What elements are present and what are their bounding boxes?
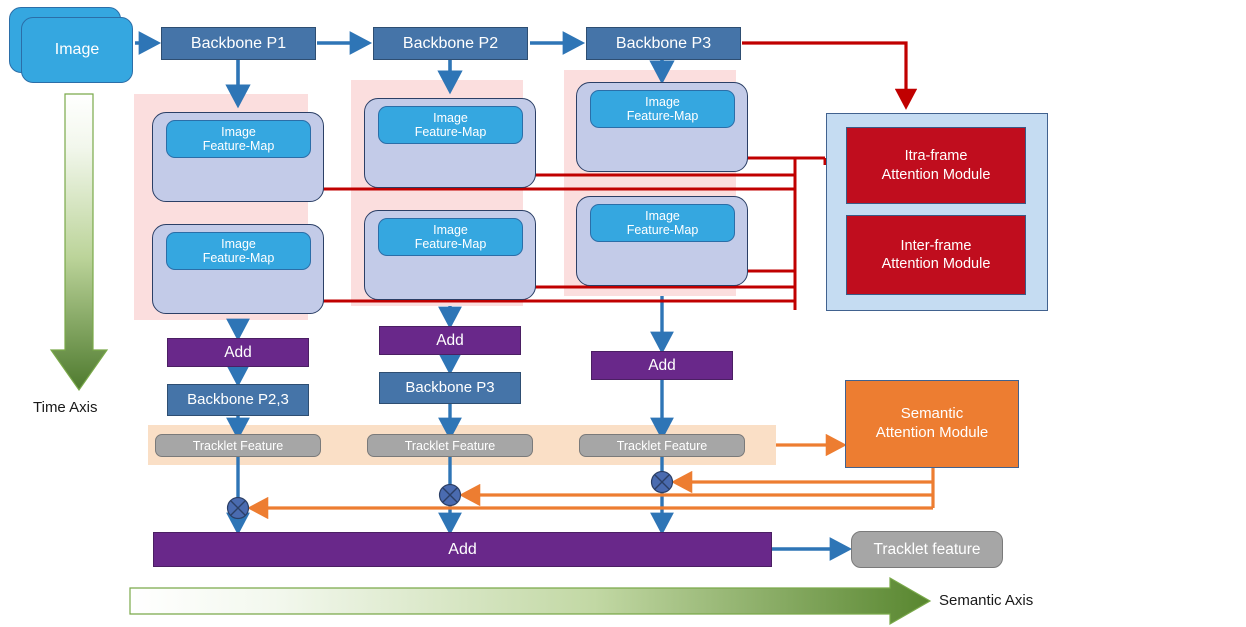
add-box-col2[interactable]: Add <box>379 326 521 355</box>
inter-frame-attention-module[interactable]: Inter-frameAttention Module <box>846 215 1026 295</box>
diagram-canvas: Image Backbone P1 Backbone P2 Backbone P… <box>0 0 1246 627</box>
feature-map-c3-t2[interactable]: ImageFeature-Map <box>590 204 735 242</box>
backbone-p3-box[interactable]: Backbone P3 <box>586 27 741 60</box>
semantic-attention-module[interactable]: SemanticAttention Module <box>845 380 1019 468</box>
tracklet-feature-col2[interactable]: Tracklet Feature <box>367 434 533 457</box>
add-box-col3[interactable]: Add <box>591 351 733 380</box>
add-label-col2: Add <box>436 332 464 349</box>
add-label-col3: Add <box>648 357 676 374</box>
backbone-p23-box[interactable]: Backbone P2,3 <box>167 384 309 416</box>
time-axis-arrow <box>51 94 107 390</box>
feature-map-c1-t2[interactable]: ImageFeature-Map <box>166 232 311 270</box>
tracklet-label-col1: Tracklet Feature <box>193 439 284 453</box>
add-label-col1: Add <box>224 344 252 361</box>
inter-line1: Inter-frame <box>901 238 972 254</box>
backbone-p2-box[interactable]: Backbone P2 <box>373 27 528 60</box>
semantic-axis-label: Semantic Axis <box>939 592 1033 609</box>
add-box-col1[interactable]: Add <box>167 338 309 367</box>
feature-map-line1: Image <box>221 125 256 139</box>
feature-map-c2-t1[interactable]: ImageFeature-Map <box>378 106 523 144</box>
feature-map-c3-t1[interactable]: ImageFeature-Map <box>590 90 735 128</box>
tracklet-label-col3: Tracklet Feature <box>617 439 708 453</box>
semantic-axis-arrow <box>130 578 930 624</box>
backbone-p1-label: Backbone P1 <box>191 35 286 53</box>
image-stack-front[interactable]: Image <box>21 17 133 83</box>
tracklet-feature-col3[interactable]: Tracklet Feature <box>579 434 745 457</box>
intra-line1: Itra-frame <box>905 148 968 164</box>
image-label: Image <box>55 41 99 59</box>
semantic-line1: Semantic <box>901 405 964 422</box>
time-axis-label: Time Axis <box>33 399 97 416</box>
backbone-p3-label: Backbone P3 <box>616 35 711 53</box>
final-tracklet-feature[interactable]: Tracklet feature <box>851 531 1003 568</box>
tracklet-feature-col1[interactable]: Tracklet Feature <box>155 434 321 457</box>
backbone-p23-label: Backbone P2,3 <box>187 392 289 409</box>
backbone-p3-mid-box[interactable]: Backbone P3 <box>379 372 521 404</box>
final-tracklet-label: Tracklet feature <box>873 541 980 559</box>
feature-map-line2: Feature-Map <box>203 139 275 153</box>
backbone-p2-label: Backbone P2 <box>403 35 498 53</box>
final-add-label: Add <box>448 541 476 559</box>
intra-line2: Attention Module <box>882 167 991 183</box>
semantic-line2: Attention Module <box>876 424 989 441</box>
intra-frame-attention-module[interactable]: Itra-frameAttention Module <box>846 127 1026 204</box>
feature-map-c1-t1[interactable]: ImageFeature-Map <box>166 120 311 158</box>
tracklet-label-col2: Tracklet Feature <box>405 439 496 453</box>
backbone-p1-box[interactable]: Backbone P1 <box>161 27 316 60</box>
inter-line2: Attention Module <box>882 256 991 272</box>
feature-map-c2-t2[interactable]: ImageFeature-Map <box>378 218 523 256</box>
final-add-bar[interactable]: Add <box>153 532 772 567</box>
backbone-p3-mid-label: Backbone P3 <box>405 380 494 397</box>
